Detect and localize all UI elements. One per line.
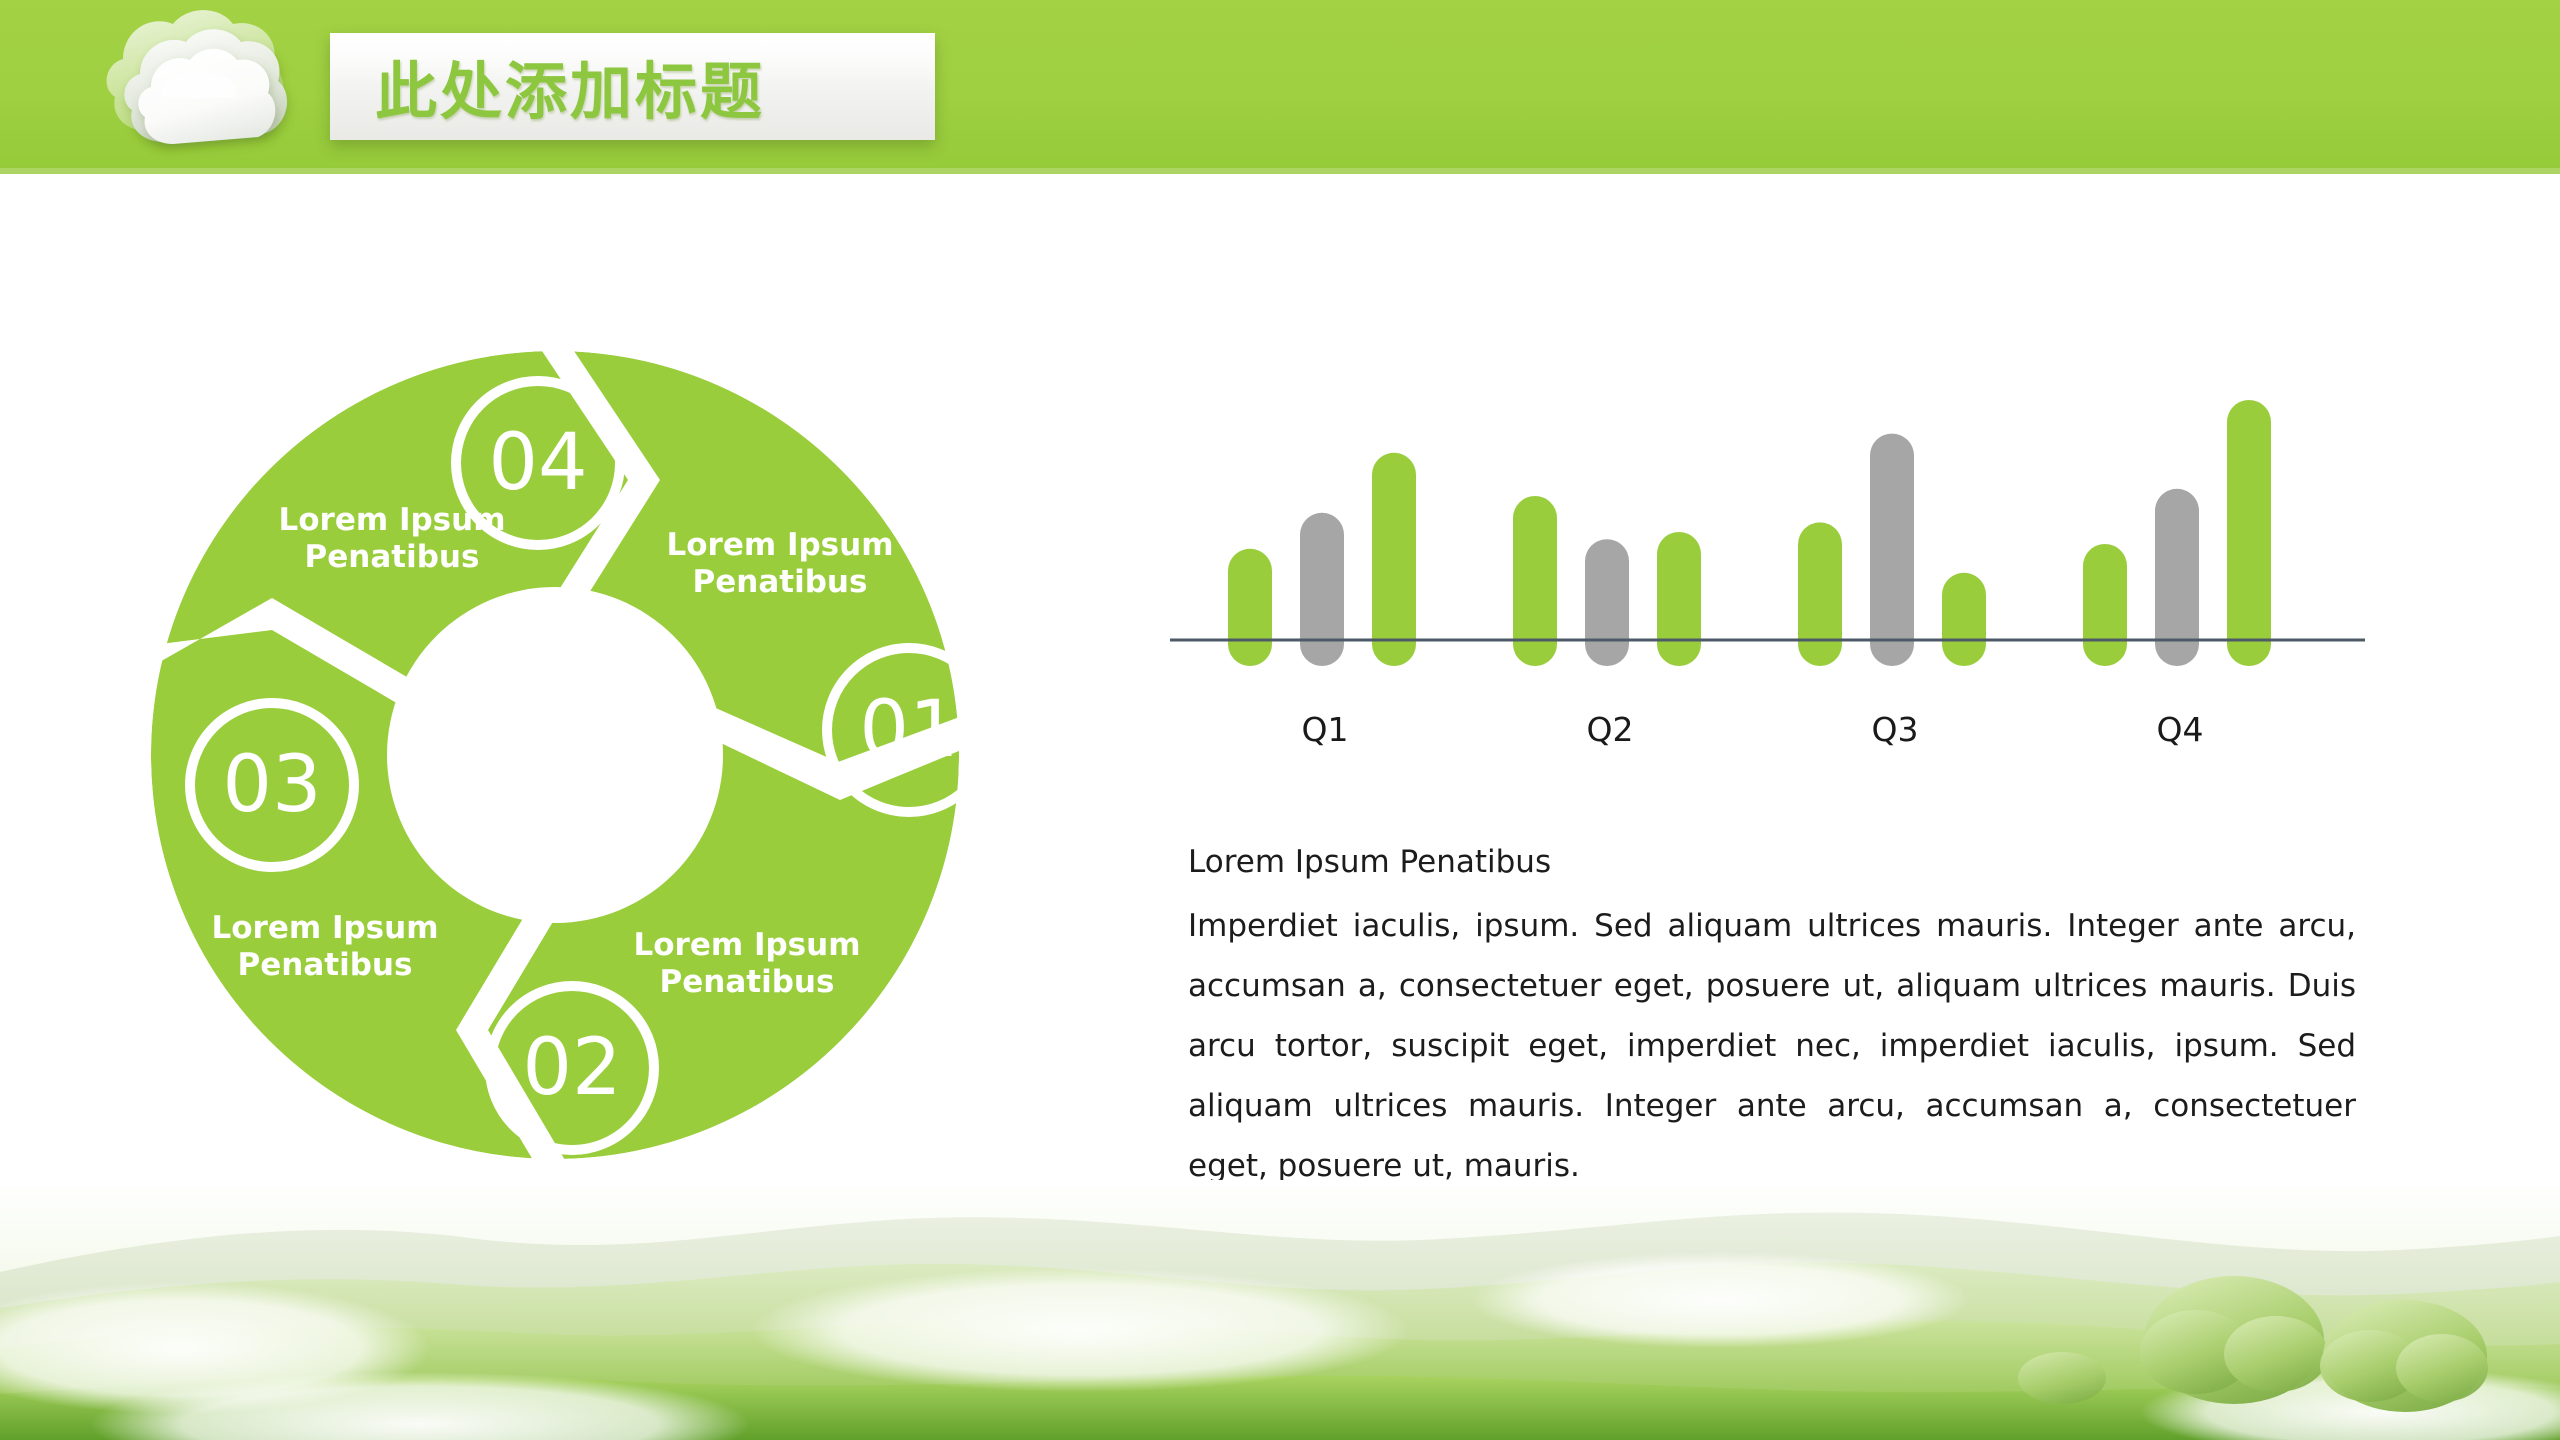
bar-Q3-s1 [1798,522,1842,666]
bar-Q2-s3 [1657,532,1701,666]
cycle-badge-02-number: 02 [522,1023,621,1113]
body-text-paragraph: Imperdiet iaculis, ipsum. Sed aliquam ul… [1188,896,2356,1196]
cycle-diagram: 01 02 03 04 Lorem Ipsum Penatibus [120,330,1020,1190]
axis-tick-q2: Q2 [1550,710,1670,749]
cycle-label-03-line1: Lorem Ipsum [211,910,438,946]
axis-tick-q1: Q1 [1265,710,1385,749]
bar-Q4-s3 [2227,400,2271,666]
cycle-badge-04-number: 04 [488,418,587,508]
bar-Q1-s1 [1228,549,1272,666]
cycle-label-01-line1: Lorem Ipsum [666,527,893,563]
cloud-tree-icon [95,4,310,164]
cycle-label-03-line2: Penatibus [238,947,413,983]
footer-landscape-svg [0,1180,2560,1440]
cycle-label-04-line2: Penatibus [305,539,480,575]
bar-Q4-s1 [2083,544,2127,666]
cycle-label-02-line1: Lorem Ipsum [633,927,860,963]
cycle-diagram-svg: 01 02 03 04 Lorem Ipsum Penatibus [120,330,1020,1190]
slide-canvas: 此处添加标题 [0,0,2560,1440]
cycle-label-01-line2: Penatibus [693,564,868,600]
body-text-block: Lorem Ipsum Penatibus Imperdiet iaculis,… [1188,832,2356,1196]
footer-landscape [0,1180,2560,1440]
bar-Q3-s3 [1942,573,1986,666]
cycle-badge-01-number: 01 [859,685,958,775]
bar-Q2-s2 [1585,539,1629,666]
axis-tick-q4: Q4 [2120,710,2240,749]
axis-tick-q3: Q3 [1835,710,1955,749]
bar-Q3-s2 [1870,434,1914,666]
cycle-label-02-line2: Penatibus [660,964,835,1000]
body-text-lead: Lorem Ipsum Penatibus [1188,832,2356,892]
cycle-label-04-line1: Lorem Ipsum [278,502,505,538]
bar-Q1-s2 [1300,513,1344,666]
tree-icon [2018,1352,2106,1404]
bar-chart-x-axis: Q1 Q2 Q3 Q4 [1170,710,2370,770]
page-title: 此处添加标题 [375,36,935,136]
cycle-badge-03-number: 03 [222,740,321,830]
bar-Q1-s3 [1372,453,1416,666]
